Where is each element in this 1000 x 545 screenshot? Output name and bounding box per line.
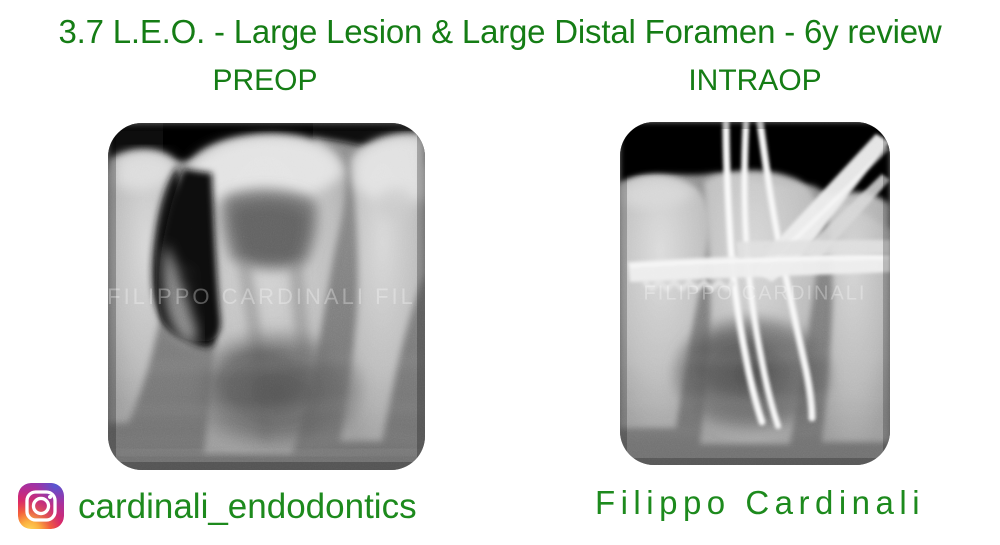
panel-label-intraop: INTRAOP — [635, 64, 875, 98]
slide-root: 3.7 L.E.O. - Large Lesion & Large Distal… — [0, 0, 1000, 545]
instagram-icon[interactable] — [18, 483, 64, 529]
author-name: Filippo Cardinali — [540, 484, 980, 522]
instagram-handle-text[interactable]: cardinali_endodontics — [78, 489, 417, 524]
intraop-radiograph: FILIPPO CARDINALI — [620, 122, 890, 465]
page-title: 3.7 L.E.O. - Large Lesion & Large Distal… — [0, 13, 1000, 51]
preop-radiograph: FILIPPO CARDINALI FIL — [108, 123, 425, 470]
panel-label-preop: PREOP — [145, 64, 385, 98]
intraop-radiograph-image — [620, 122, 890, 465]
instagram-handle-block[interactable]: cardinali_endodontics — [18, 483, 417, 529]
preop-radiograph-image — [108, 123, 425, 470]
